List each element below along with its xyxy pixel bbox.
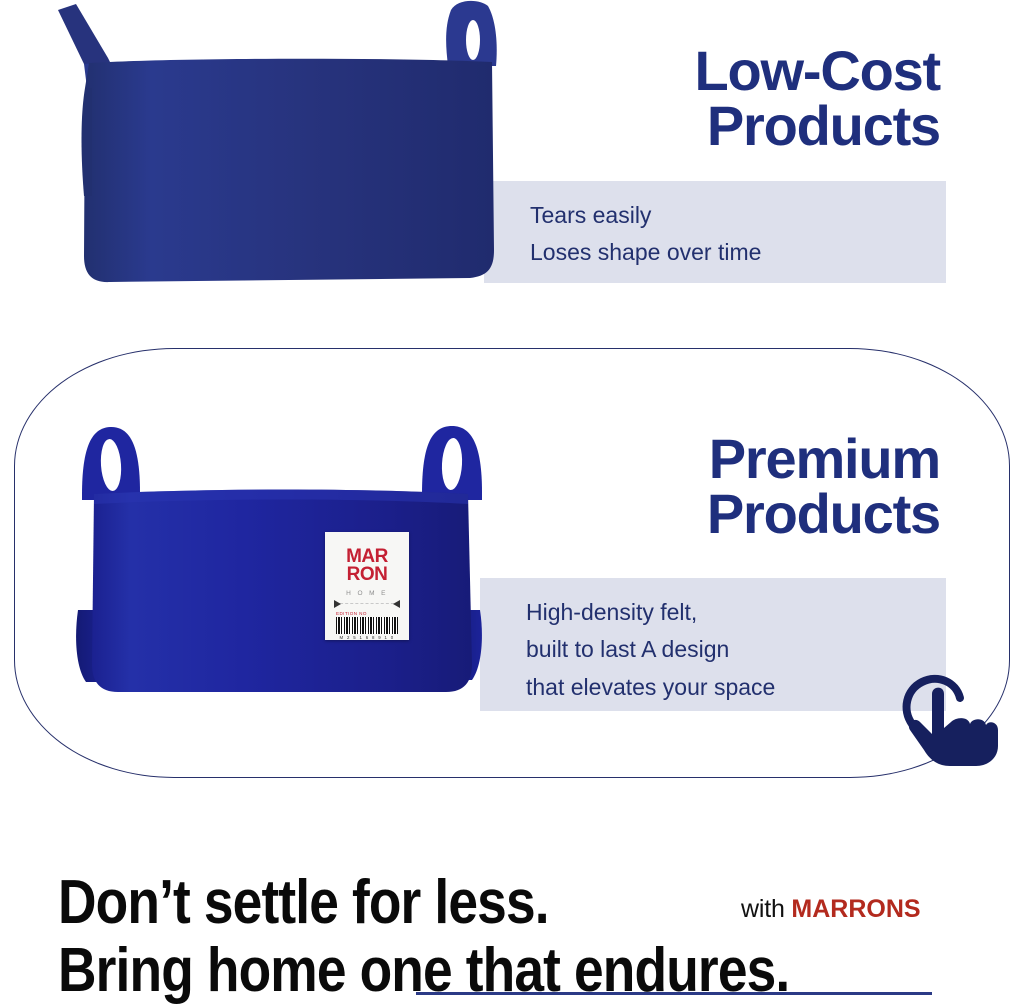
premium-callout-line2: built to last A design [526,631,946,668]
infographic-page: MAR RON H O M E EDITION NO M 2 5 1 6 8 9… [0,0,1024,1004]
premium-heading-line2: Products [420,487,940,542]
label-brand-line2: RON [347,564,388,585]
footer-underline-rule [416,992,932,995]
low-cost-callout-line2: Loses shape over time [530,234,946,271]
low-cost-callout-line1: Tears easily [530,197,946,234]
premium-callout-line1: High-density felt, [526,594,946,631]
premium-heading: Premium Products [420,432,940,542]
label-divider-rule [335,603,399,604]
premium-callout-line3: that elevates your space [526,669,946,706]
premium-heading-line1: Premium [420,432,940,487]
with-word: with [741,895,785,923]
low-cost-heading-line1: Low-Cost [420,44,940,99]
basket-body [92,490,472,693]
low-cost-callout-box: Tears easily Loses shape over time [484,181,946,283]
label-edition-text: EDITION NO [336,611,367,616]
premium-callout-box: High-density felt, built to last A desig… [480,578,946,711]
label-sub-text: H O M E [346,590,388,597]
marron-product-label: MAR RON H O M E EDITION NO M 2 5 1 6 8 9… [325,532,409,640]
barcode-icon [336,617,398,634]
basket-handle-left [58,4,110,72]
click-hand-cursor-icon[interactable] [898,672,1002,768]
footer-headline-block: Don’t settle for less. Bring home one th… [0,856,1024,1004]
brand-name-marrons: MARRONS [791,895,920,923]
label-code-text: M 2 5 1 6 8 9 1 0 [339,635,394,640]
hand-shape [909,688,998,766]
footer-headline-line1: Don’t settle for less. [58,872,549,934]
with-brand-tagline: with MARRONS [741,895,921,924]
label-brand-text: MAR RON [346,548,388,584]
low-cost-heading-line2: Products [420,99,940,154]
low-cost-heading: Low-Cost Products [420,44,940,154]
